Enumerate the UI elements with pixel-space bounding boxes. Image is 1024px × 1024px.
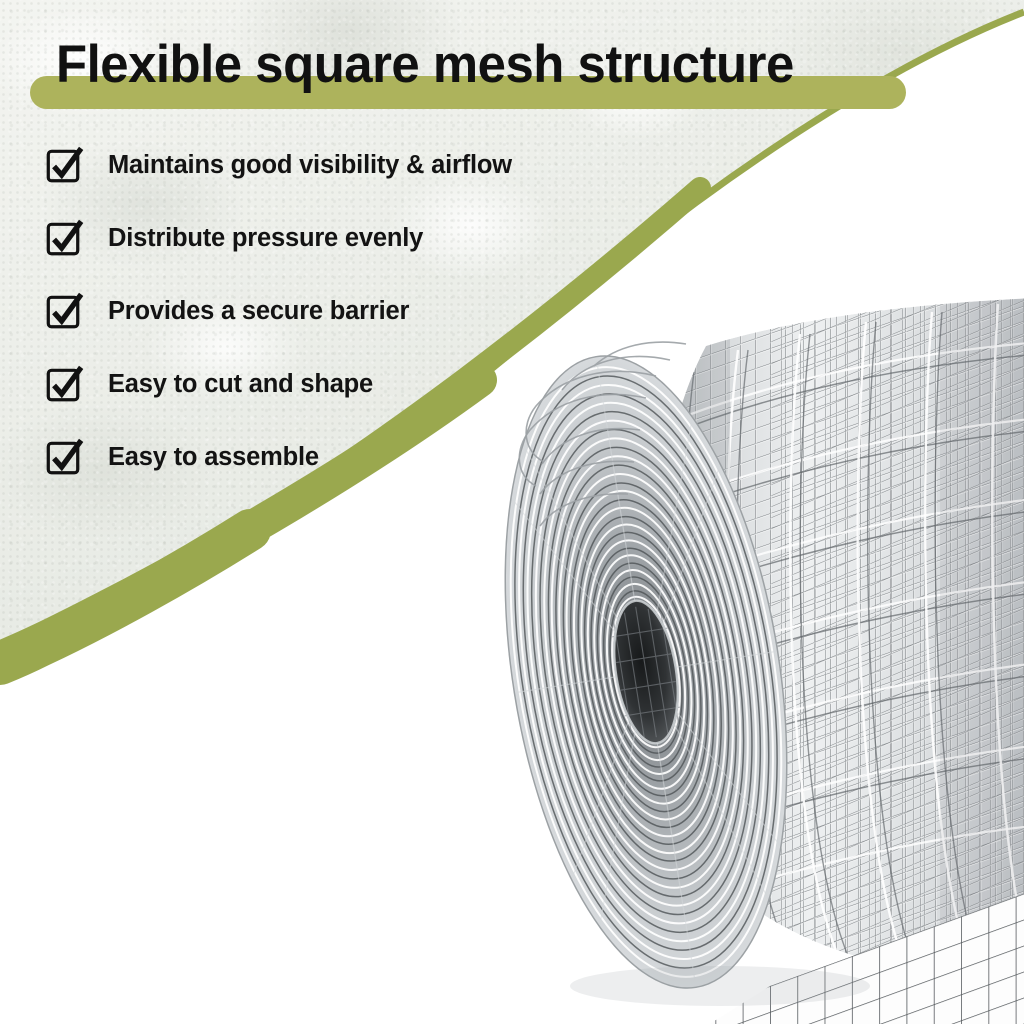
product-feature-banner: Flexible square mesh structure Maintains… <box>0 0 1024 1024</box>
list-item: Maintains good visibility & airflow <box>46 142 606 215</box>
list-item-label: Provides a secure barrier <box>108 294 409 328</box>
roll-hub-hole <box>605 596 687 748</box>
list-item-label: Maintains good visibility & airflow <box>108 148 512 182</box>
page-title: Flexible square mesh structure <box>56 36 920 94</box>
checkbox-checked-icon[interactable] <box>46 219 84 257</box>
list-item: Easy to cut and shape <box>46 361 606 434</box>
roll-body <box>610 280 1024 1024</box>
checkbox-checked-icon[interactable] <box>46 365 84 403</box>
checkbox-checked-icon[interactable] <box>46 292 84 330</box>
list-item-label: Distribute pressure evenly <box>108 221 423 255</box>
feature-list: Maintains good visibility & airflow Dist… <box>46 142 606 507</box>
list-item-label: Easy to cut and shape <box>108 367 373 401</box>
list-item: Distribute pressure evenly <box>46 215 606 288</box>
checkbox-checked-icon[interactable] <box>46 438 84 476</box>
list-item: Provides a secure barrier <box>46 288 606 361</box>
flat-mesh-sheet <box>644 773 1024 1024</box>
list-item: Easy to assemble <box>46 434 606 507</box>
list-item-label: Easy to assemble <box>108 440 319 474</box>
checkbox-checked-icon[interactable] <box>46 146 84 184</box>
